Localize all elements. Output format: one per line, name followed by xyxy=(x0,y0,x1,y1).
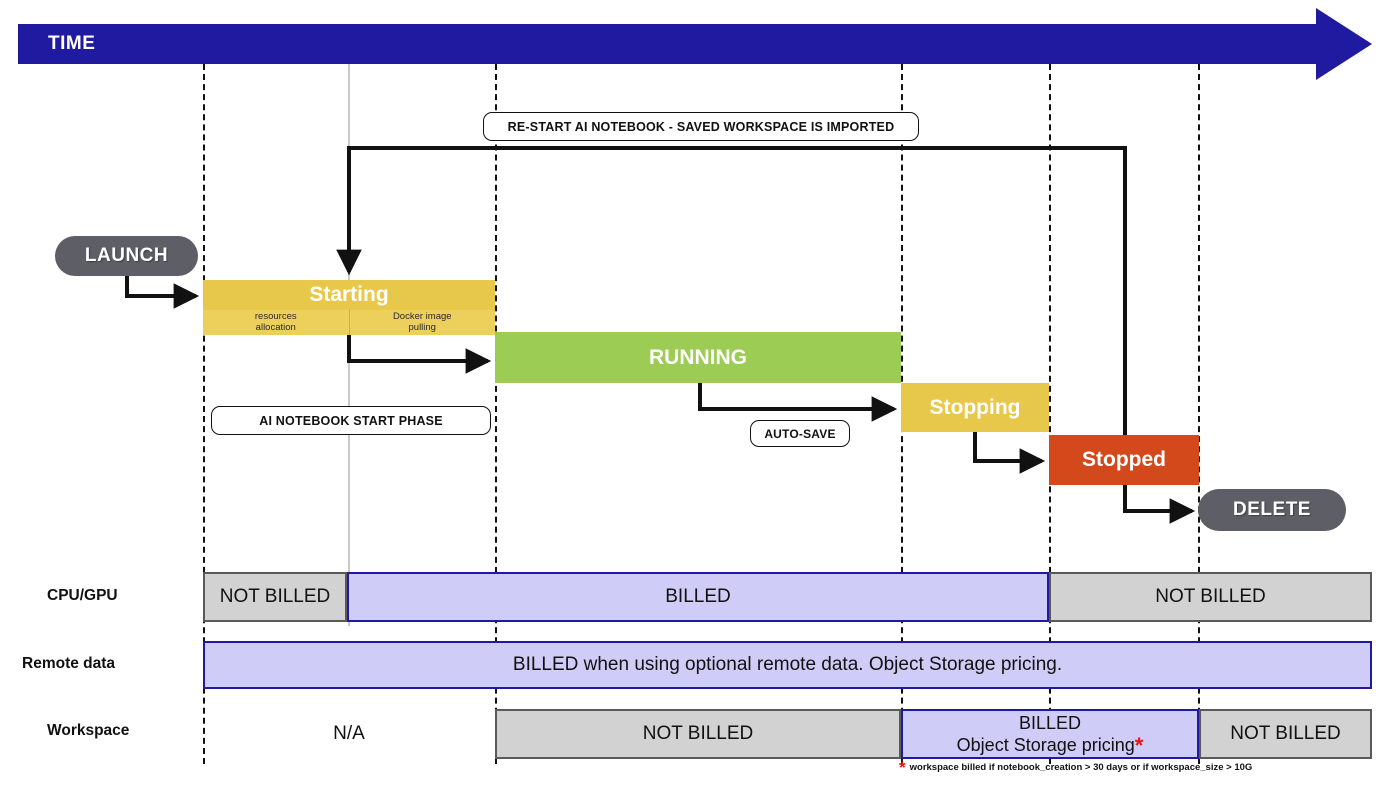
substep-docker-line2: pulling xyxy=(409,322,436,333)
substep-docker-line1: Docker image xyxy=(393,311,452,322)
state-stopping-label: Stopping xyxy=(930,396,1021,420)
state-stopping: Stopping xyxy=(901,383,1049,432)
workspace-segment-not-billed-start: NOT BILLED xyxy=(495,709,901,759)
state-starting-label: Starting xyxy=(309,283,388,307)
cpu-segment-not-billed-start: NOT BILLED xyxy=(203,572,347,622)
workspace-segment-billed: BILLED Object Storage pricing* xyxy=(901,709,1199,759)
right-arrow-icon xyxy=(1316,8,1372,80)
launch-label: LAUNCH xyxy=(85,245,168,267)
row-label-remote-data: Remote data xyxy=(22,655,115,673)
workspace-billed-line2: Object Storage pricing xyxy=(957,735,1135,755)
workspace-not-billed-2-label: NOT BILLED xyxy=(1230,723,1341,745)
state-stopped: Stopped xyxy=(1049,435,1199,485)
callout-auto-save: AUTO-SAVE xyxy=(750,420,850,447)
footnote: * workspace billed if notebook_creation … xyxy=(899,762,1252,773)
launch-node[interactable]: LAUNCH xyxy=(55,236,198,276)
delete-label: DELETE xyxy=(1233,499,1311,521)
row-label-workspace: Workspace xyxy=(47,722,129,740)
time-banner-label: TIME xyxy=(48,33,95,55)
callout-start-phase-label: AI NOTEBOOK START PHASE xyxy=(259,414,443,428)
delete-node[interactable]: DELETE xyxy=(1198,489,1346,531)
state-starting-label-wrap: Starting xyxy=(203,280,495,310)
footnote-asterisk-icon: * xyxy=(899,763,906,772)
workspace-not-billed-1-label: NOT BILLED xyxy=(643,723,754,745)
remote-billed-label: BILLED when using optional remote data. … xyxy=(513,654,1062,676)
cpu-segment-billed: BILLED xyxy=(347,572,1049,622)
substep-resources-allocation: resources allocation xyxy=(203,310,350,335)
state-running-label: RUNNING xyxy=(649,346,747,370)
cpu-not-billed-1-label: NOT BILLED xyxy=(220,586,331,608)
diagram-canvas: TIME LAUNCH DELETE re xyxy=(0,0,1400,788)
footnote-text: workspace billed if notebook_creation > … xyxy=(910,762,1253,773)
substep-resources-line2: allocation xyxy=(256,322,296,333)
callout-restart: RE-START AI NOTEBOOK - SAVED WORKSPACE I… xyxy=(483,112,919,141)
callout-restart-label: RE-START AI NOTEBOOK - SAVED WORKSPACE I… xyxy=(508,120,895,134)
cpu-billed-label: BILLED xyxy=(665,586,730,608)
substep-docker-image-pulling: Docker image pulling xyxy=(350,310,496,335)
workspace-segment-na: N/A xyxy=(203,709,495,759)
workspace-billed-line1: BILLED xyxy=(1019,713,1081,733)
cpu-not-billed-2-label: NOT BILLED xyxy=(1155,586,1266,608)
state-starting-substeps: resources allocation Docker image pullin… xyxy=(203,310,495,335)
remote-segment-billed: BILLED when using optional remote data. … xyxy=(203,641,1372,689)
row-label-cpu-gpu: CPU/GPU xyxy=(47,587,118,605)
asterisk-marker-icon: * xyxy=(1135,733,1144,758)
timeline-divider-substep xyxy=(348,64,350,626)
substep-resources-line1: resources xyxy=(255,311,297,322)
time-banner xyxy=(18,24,1318,64)
cpu-segment-not-billed-end: NOT BILLED xyxy=(1049,572,1372,622)
callout-start-phase: AI NOTEBOOK START PHASE xyxy=(211,406,491,435)
state-running: RUNNING xyxy=(495,332,901,383)
state-stopped-label: Stopped xyxy=(1082,448,1166,472)
workspace-na-label: N/A xyxy=(333,723,365,745)
workspace-segment-not-billed-end: NOT BILLED xyxy=(1199,709,1372,759)
callout-auto-save-label: AUTO-SAVE xyxy=(764,427,835,441)
